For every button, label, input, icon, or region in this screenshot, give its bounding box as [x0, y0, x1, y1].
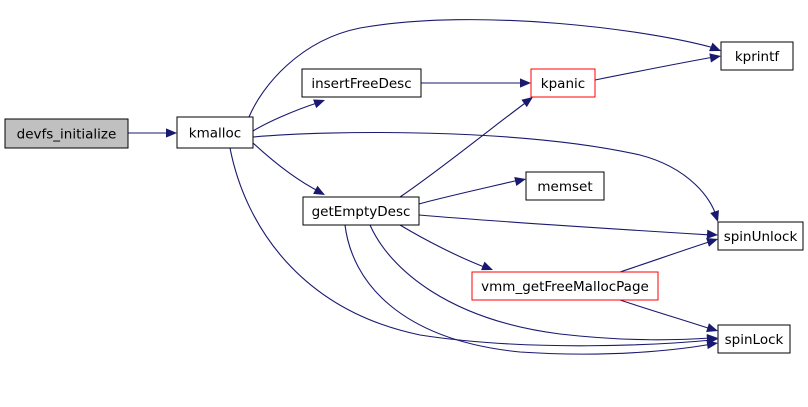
node-label-vmm_getFreeMallocPage: vmm_getFreeMallocPage	[481, 279, 649, 295]
graph-node-spinLock[interactable]: spinLock	[718, 325, 790, 353]
arrow-head-icon	[710, 210, 722, 223]
call-graph-svg: devfs_initializekmallocinsertFreeDesckpa…	[0, 0, 808, 407]
node-label-memset: memset	[537, 179, 592, 195]
graph-node-spinUnlock[interactable]: spinUnlock	[718, 222, 803, 250]
edge-kmalloc-to-insertFreeDesc	[253, 96, 327, 131]
graph-node-devfs_initialize[interactable]: devfs_initialize	[5, 119, 128, 148]
node-label-devfs_initialize: devfs_initialize	[17, 127, 117, 143]
edge-kmalloc-to-getEmptyDesc	[253, 143, 327, 199]
node-label-kpanic: kpanic	[541, 76, 585, 92]
graph-node-insertFreeDesc[interactable]: insertFreeDesc	[302, 69, 421, 97]
arrow-head-icon	[313, 96, 326, 108]
node-label-kprintf: kprintf	[735, 49, 781, 65]
edge-insertFreeDesc-to-kpanic	[421, 78, 531, 87]
edge-devfs_initialize-to-kmalloc	[128, 128, 177, 137]
arrow-head-icon	[706, 323, 719, 335]
node-label-spinLock: spinLock	[725, 332, 784, 348]
edge-vmm_getFreeMallocPage-to-spinUnlock	[620, 235, 719, 272]
nodes-layer: devfs_initializekmallocinsertFreeDesckpa…	[5, 42, 803, 353]
arrow-head-icon	[520, 78, 531, 87]
arrow-head-icon	[514, 175, 527, 186]
edge-kmalloc-to-spinLock	[230, 148, 718, 346]
arrow-head-icon	[166, 128, 177, 137]
graph-node-kmalloc[interactable]: kmalloc	[177, 117, 253, 148]
node-label-spinUnlock: spinUnlock	[724, 229, 798, 245]
graph-node-kpanic[interactable]: kpanic	[531, 69, 595, 97]
edge-kpanic-to-kprintf	[595, 51, 722, 80]
arrow-head-icon	[707, 230, 719, 240]
graph-node-vmm_getFreeMallocPage[interactable]: vmm_getFreeMallocPage	[472, 272, 658, 300]
graph-node-getEmptyDesc[interactable]: getEmptyDesc	[303, 197, 419, 225]
edge-getEmptyDesc-to-memset	[419, 175, 527, 204]
node-label-kmalloc: kmalloc	[189, 126, 241, 142]
graph-node-memset[interactable]: memset	[526, 172, 604, 200]
edges-layer	[128, 20, 723, 354]
edge-getEmptyDesc-to-spinUnlock	[419, 215, 718, 240]
node-label-insertFreeDesc: insertFreeDesc	[311, 76, 411, 92]
call-graph-canvas: devfs_initializekmallocinsertFreeDesckpa…	[0, 0, 808, 407]
edge-getEmptyDesc-to-vmm_getFreeMallocPage	[400, 225, 495, 274]
edge-vmm_getFreeMallocPage-to-spinLock	[620, 300, 719, 335]
node-label-getEmptyDesc: getEmptyDesc	[312, 204, 411, 220]
graph-node-kprintf[interactable]: kprintf	[721, 42, 793, 70]
arrow-head-icon	[709, 51, 721, 62]
